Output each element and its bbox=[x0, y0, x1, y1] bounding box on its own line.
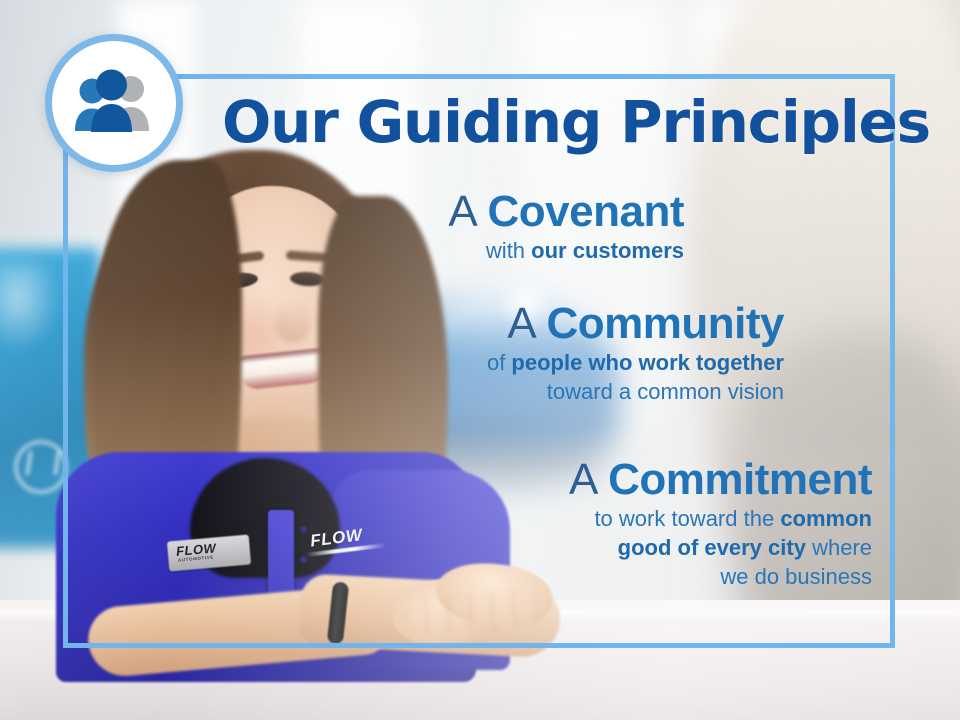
principle-detail-community: of people who work togethertoward a comm… bbox=[224, 348, 784, 407]
guiding-principles-badge bbox=[45, 34, 183, 172]
page-title: Our Guiding Principles bbox=[222, 93, 930, 152]
principle-detail-commitment: to work toward the commongood of every c… bbox=[284, 504, 872, 592]
principle-heading-covenant: A Covenant bbox=[184, 188, 684, 236]
principle-detail-covenant: with our customers bbox=[184, 236, 684, 265]
group-of-people-icon bbox=[66, 67, 162, 139]
principle-block-community: A Community of people who work togethert… bbox=[224, 300, 784, 406]
principle-block-commitment: A Commitment to work toward the commongo… bbox=[284, 456, 872, 592]
principle-block-covenant: A Covenant with our customers bbox=[184, 188, 684, 265]
banner-root: FLOW AUTOMOTIVE FLOW bbox=[0, 0, 960, 720]
principle-heading-commitment: A Commitment bbox=[284, 456, 872, 504]
principle-heading-community: A Community bbox=[224, 300, 784, 348]
